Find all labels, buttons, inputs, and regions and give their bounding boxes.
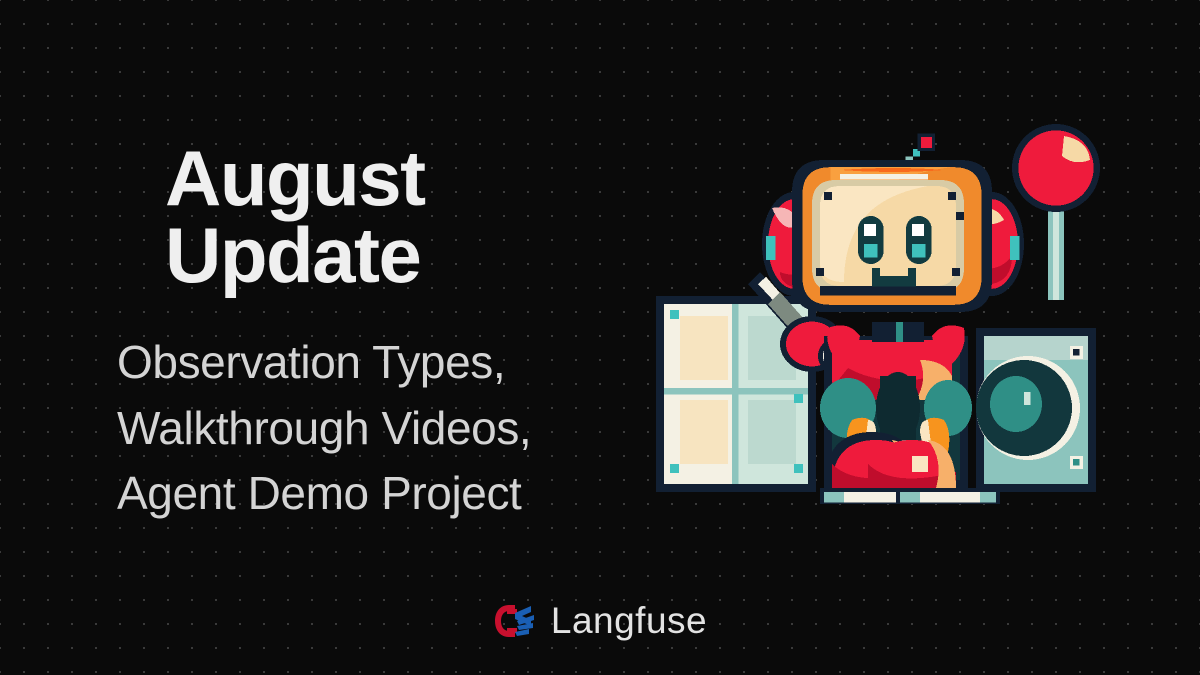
langfuse-logo-icon [493, 602, 537, 640]
speaker-panel-icon [976, 328, 1096, 492]
robot-helmet [792, 160, 992, 312]
brand-footer: Langfuse [0, 600, 1200, 642]
page-subtitle: Observation Types, Walkthrough Videos, A… [117, 330, 637, 526]
pixel-art-robot-illustration [648, 112, 1140, 512]
page-title: August Update [165, 140, 637, 294]
hero-text-block: August Update Observation Types, Walkthr… [117, 140, 637, 526]
poster-canvas: August Update Observation Types, Walkthr… [0, 0, 1200, 675]
brand-name: Langfuse [551, 600, 707, 642]
balloon-icon [1012, 124, 1100, 300]
robot-feet [820, 432, 1000, 504]
